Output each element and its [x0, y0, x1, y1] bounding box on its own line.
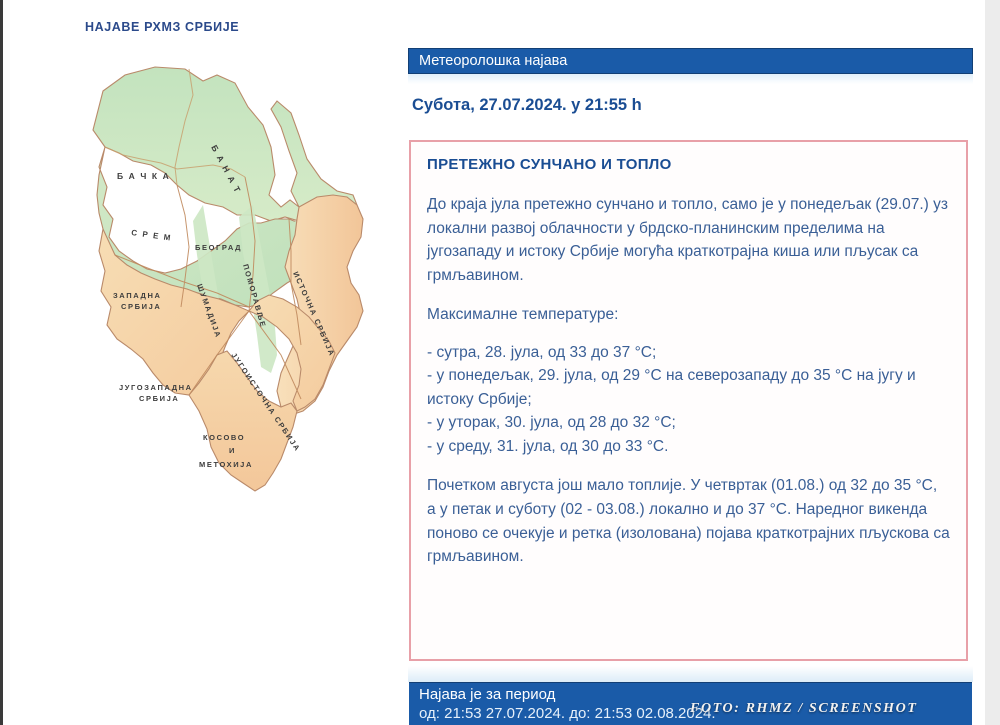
- validity-period-title: Најава је за период: [419, 686, 972, 705]
- announcement-intro-paragraph: До краја јула претежно сунчано и топло, …: [427, 193, 950, 287]
- announcement-outlook-paragraph: Почетком августа још мало топлије. У чет…: [427, 474, 950, 568]
- page-right-scroll-strip[interactable]: [984, 0, 1000, 725]
- map-label-backa: Б А Ч К А: [117, 171, 170, 181]
- header-underglow: [408, 74, 973, 84]
- serbia-regions-map: Б А Ч К А Б А Н А Т С Р Е М БЕОГРАД ЗАПА…: [85, 55, 375, 520]
- map-label-jugozapadna-srbija-line2: СРБИЈА: [139, 394, 179, 403]
- announcement-content-box: ПРЕТЕЖНО СУНЧАНО И ТОПЛО До краја јула п…: [409, 140, 968, 661]
- map-label-zapadna-srbija: ЗАПАДНА: [113, 291, 161, 300]
- map-label-kosovo: КОСОВО: [203, 433, 245, 442]
- max-temperatures-label: Максималне температуре:: [427, 303, 950, 327]
- meteo-header-label: Метеоролошка најава: [419, 53, 567, 69]
- map-label-srem: С Р Е М: [131, 228, 173, 243]
- announcement-datetime: Субота, 27.07.2024. у 21:55 h: [412, 96, 642, 115]
- map-svg: Б А Ч К А Б А Н А Т С Р Е М БЕОГРАД ЗАПА…: [85, 55, 375, 520]
- validity-period-range: од: 21:53 27.07.2024. до: 21:53 02.08.20…: [419, 705, 972, 724]
- map-label-zapadna-srbija-line2: СРБИЈА: [121, 302, 161, 311]
- max-temperatures-list: - сутра, 28. јула, од 33 до 37 °C; - у п…: [427, 341, 950, 459]
- left-column: НАЈАВЕ РХМЗ СРБИЈЕ: [3, 0, 400, 725]
- page-title: НАЈАВЕ РХМЗ СРБИЈЕ: [85, 20, 239, 34]
- map-label-jugozapadna-srbija: ЈУГОЗАПАДНА: [119, 383, 193, 392]
- map-label-kosovo-i: И: [229, 446, 236, 455]
- map-label-kosovo-metohija: МЕТОХИЈА: [199, 460, 253, 469]
- meteo-header-bar: Метеоролошка најава: [408, 48, 973, 74]
- announcement-panel: Метеоролошка најава Субота, 27.07.2024. …: [400, 0, 985, 725]
- validity-period-bar: Најава је за период од: 21:53 27.07.2024…: [409, 682, 972, 725]
- announcement-heading: ПРЕТЕЖНО СУНЧАНО И ТОПЛО: [427, 156, 950, 173]
- footer-glow: [408, 666, 973, 682]
- map-label-beograd: БЕОГРАД: [195, 243, 242, 252]
